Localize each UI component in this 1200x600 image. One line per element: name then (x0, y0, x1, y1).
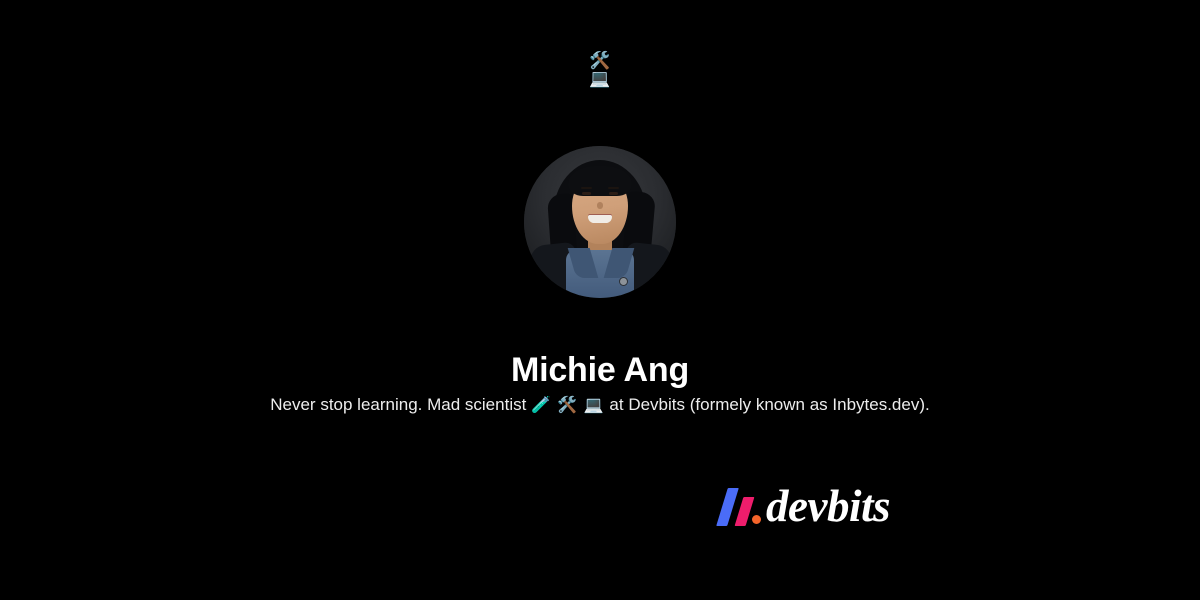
profile-bio-suffix: at Devbits (formely known as Inbytes.dev… (605, 395, 930, 414)
header-emoji-group: 🛠️ 💻 (0, 52, 1200, 88)
profile-card-page: 🛠️ 💻 Michie Ang Never stop learni (0, 0, 1200, 600)
profile-bio: Never stop learning. Mad scientist 🧪 🛠️ … (0, 393, 1200, 418)
devbits-wordmark: devbits (766, 483, 890, 529)
avatar-jacket-button (620, 278, 627, 285)
laptop-icon: 💻 (0, 70, 1200, 88)
avatar-eyebrow-right (608, 187, 619, 189)
avatar-nose (597, 202, 603, 209)
avatar-mouth (588, 215, 612, 223)
avatar-fringe (568, 166, 632, 196)
profile-bio-prefix: Never stop learning. Mad scientist (270, 395, 531, 414)
devbits-logo[interactable]: devbits (718, 478, 890, 534)
hammer-and-wrench-icon: 🛠️ (0, 52, 1200, 70)
avatar-photo (524, 146, 676, 298)
page-title: Michie Ang (0, 349, 1200, 391)
avatar-eyebrow-left (581, 187, 592, 189)
avatar (524, 146, 676, 298)
logo-dot-orange-icon (752, 515, 761, 524)
logo-slash-pink-icon (735, 497, 755, 526)
devbits-logo-mark-icon (718, 484, 768, 528)
avatar-eye-right (609, 192, 618, 195)
avatar-eye-left (582, 192, 591, 195)
profile-bio-emoji-group: 🧪 🛠️ 💻 (531, 397, 605, 414)
